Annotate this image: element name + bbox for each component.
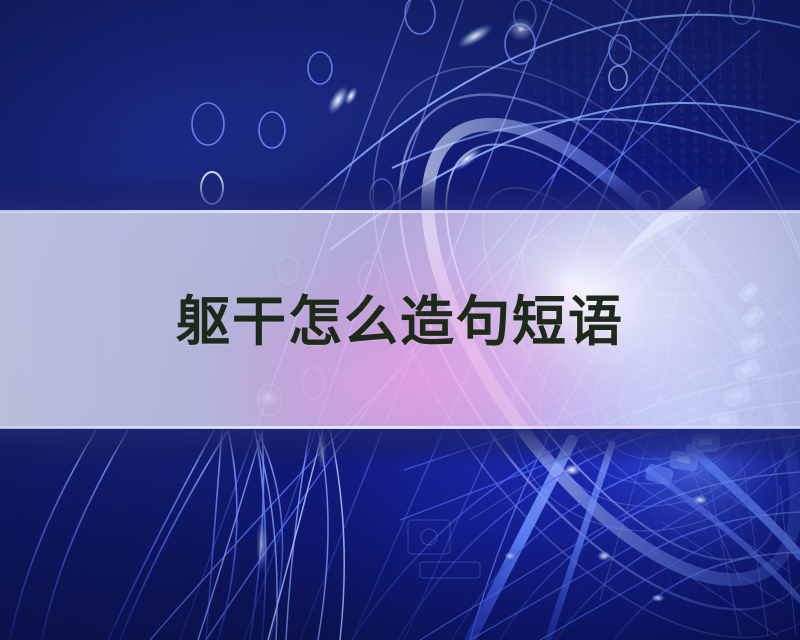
- title-container: 躯干怎么造句短语: [0, 212, 800, 428]
- page-title: 躯干怎么造句短语: [176, 295, 624, 349]
- banner-image: 0 1 0 0 1 0 1 1 0 0 1 0 0 0 1 0 1 1 0 1 …: [0, 0, 800, 640]
